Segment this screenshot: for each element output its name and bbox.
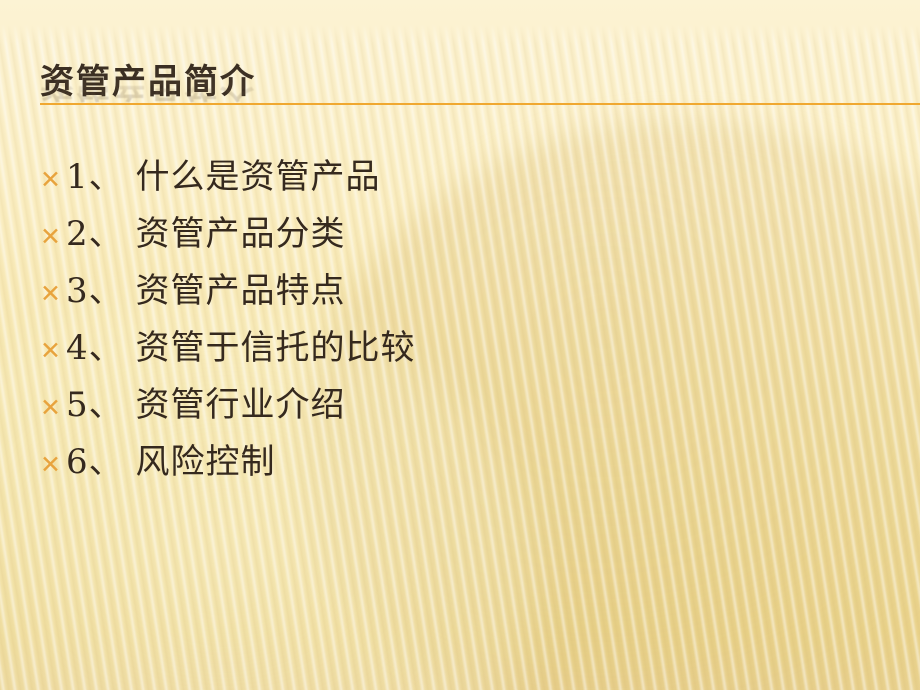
cross-bullet-icon: ✕ bbox=[40, 224, 66, 249]
title-underline-rule bbox=[40, 103, 920, 105]
background-top-fade bbox=[0, 0, 920, 44]
list-item-label: 4、 资管于信托的比较 bbox=[66, 331, 415, 365]
cross-bullet-icon: ✕ bbox=[40, 167, 66, 192]
slide-title-block: 资管产品简介 资管产品简介 bbox=[40, 60, 880, 150]
cross-bullet-icon: ✕ bbox=[40, 395, 66, 420]
list-item: ✕ 4、 资管于信托的比较 bbox=[40, 331, 880, 388]
list-item: ✕ 2、 资管产品分类 bbox=[40, 217, 880, 274]
list-item-label: 1、 什么是资管产品 bbox=[66, 160, 380, 194]
presentation-slide: 资管产品简介 资管产品简介 ✕ 1、 什么是资管产品 ✕ 2、 资管产品分类 ✕… bbox=[0, 0, 920, 690]
page-title: 资管产品简介 bbox=[40, 60, 256, 104]
cross-bullet-icon: ✕ bbox=[40, 281, 66, 306]
cross-bullet-icon: ✕ bbox=[40, 338, 66, 363]
agenda-bullet-list: ✕ 1、 什么是资管产品 ✕ 2、 资管产品分类 ✕ 3、 资管产品特点 ✕ 4… bbox=[40, 160, 880, 502]
list-item-label: 3、 资管产品特点 bbox=[66, 274, 345, 308]
list-item: ✕ 6、 风险控制 bbox=[40, 445, 880, 502]
list-item: ✕ 5、 资管行业介绍 bbox=[40, 388, 880, 445]
list-item: ✕ 3、 资管产品特点 bbox=[40, 274, 880, 331]
list-item-label: 6、 风险控制 bbox=[66, 445, 275, 479]
cross-bullet-icon: ✕ bbox=[40, 452, 66, 477]
list-item: ✕ 1、 什么是资管产品 bbox=[40, 160, 880, 217]
list-item-label: 2、 资管产品分类 bbox=[66, 217, 345, 251]
list-item-label: 5、 资管行业介绍 bbox=[66, 388, 345, 422]
